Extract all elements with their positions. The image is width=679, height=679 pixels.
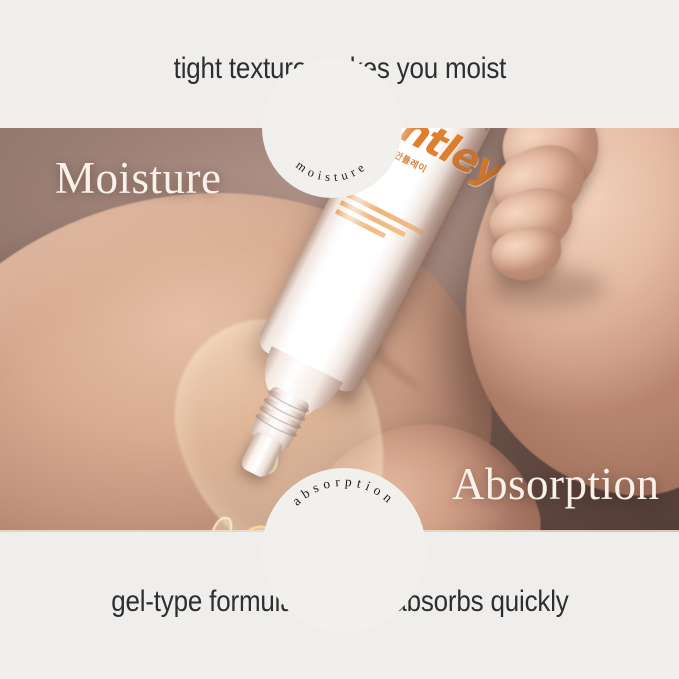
bottom-caption-text: gel-type formulation that absorbs quickl… xyxy=(111,585,568,619)
photo-divider xyxy=(0,530,679,532)
product-ad-image: Antley 안틀레이 Moisture Absorpt xyxy=(0,0,679,679)
moisture-wordmark: Moisture xyxy=(55,152,222,204)
top-caption-text: tight texture makes you moist xyxy=(173,52,506,86)
bottom-caption-band: gel-type formulation that absorbs quickl… xyxy=(0,532,679,679)
absorption-wordmark: Absorption xyxy=(452,458,660,510)
top-caption-band: tight texture makes you moist xyxy=(0,0,679,128)
